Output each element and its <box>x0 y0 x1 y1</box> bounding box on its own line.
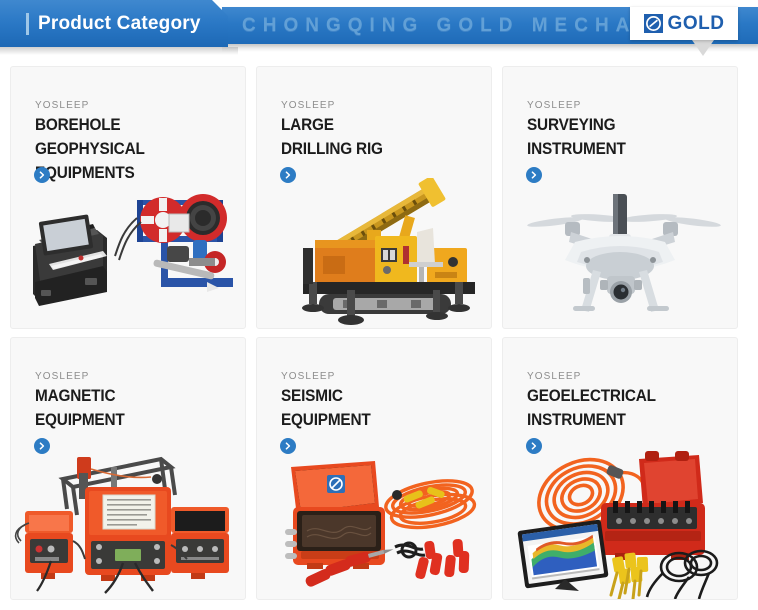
card-eyebrow: YOSLEEP <box>281 100 335 111</box>
category-card-seismic-equipment[interactable]: YOSLEEP SEISMIC EQUIPMENT <box>256 337 492 600</box>
gold-logo-text: GOLD <box>668 14 725 33</box>
card-title: MAGNETIC EQUIPMENT <box>35 384 221 432</box>
card-title-line2: INSTRUMENT <box>527 408 713 432</box>
card-title-line1: BOREHOLE GEOPHYSICAL <box>35 113 221 161</box>
tab-label: Product Category <box>38 0 201 47</box>
card-image-drone <box>503 178 737 328</box>
card-image-magnetic <box>11 449 245 599</box>
gold-logo[interactable]: GOLD <box>630 7 738 40</box>
card-title-line2: EQUIPMENT <box>35 408 221 432</box>
product-category-tab[interactable]: Product Category <box>0 0 228 47</box>
card-title: GEOELECTRICAL INSTRUMENT <box>527 384 713 432</box>
card-title: BOREHOLE GEOPHYSICAL EQUIPMENTS <box>35 113 221 185</box>
card-title-line2: INSTRUMENT <box>527 137 713 161</box>
category-card-grid: YOSLEEP BOREHOLE GEOPHYSICAL EQUIPMENTS <box>0 66 758 600</box>
card-image-seismic <box>257 449 491 599</box>
card-title-line2: DRILLING RIG <box>281 137 467 161</box>
card-title: SURVEYING INSTRUMENT <box>527 113 713 161</box>
card-title: SEISMIC EQUIPMENT <box>281 384 467 432</box>
category-card-borehole[interactable]: YOSLEEP BOREHOLE GEOPHYSICAL EQUIPMENTS <box>10 66 246 329</box>
tab-shadow <box>0 47 238 55</box>
card-title-line1: SURVEYING <box>527 113 713 137</box>
card-title-line1: MAGNETIC <box>35 384 221 408</box>
card-image-geoelectrical <box>503 449 737 599</box>
category-card-magnetic-equipment[interactable]: YOSLEEP MAGNETIC EQUIPMENT <box>10 337 246 600</box>
card-title-line1: GEOELECTRICAL <box>527 384 713 408</box>
card-eyebrow: YOSLEEP <box>527 371 581 382</box>
card-eyebrow: YOSLEEP <box>35 371 89 382</box>
card-image-drilling-rig <box>257 178 491 328</box>
card-eyebrow: YOSLEEP <box>527 100 581 111</box>
category-card-geoelectrical-instrument[interactable]: YOSLEEP GEOELECTRICAL INSTRUMENT <box>502 337 738 600</box>
category-card-surveying-instrument[interactable]: YOSLEEP SURVEYING INSTRUMENT <box>502 66 738 329</box>
page-header: CHONGQING GOLD MECHANICAL Product Catego… <box>0 0 758 58</box>
tab-accent-bar <box>26 13 29 35</box>
card-title-line1: LARGE <box>281 113 467 137</box>
card-title-line1: SEISMIC <box>281 384 467 408</box>
brand-banner-shadow <box>222 44 758 52</box>
product-category-page: CHONGQING GOLD MECHANICAL Product Catego… <box>0 0 758 610</box>
logo-pointer-icon <box>692 40 714 56</box>
card-image-borehole <box>11 178 245 328</box>
card-eyebrow: YOSLEEP <box>35 100 89 111</box>
card-title-line2: EQUIPMENT <box>281 408 467 432</box>
card-eyebrow: YOSLEEP <box>281 371 335 382</box>
gold-logo-mark-icon <box>644 14 663 33</box>
card-title: LARGE DRILLING RIG <box>281 113 467 161</box>
category-card-drilling-rig[interactable]: YOSLEEP LARGE DRILLING RIG <box>256 66 492 329</box>
